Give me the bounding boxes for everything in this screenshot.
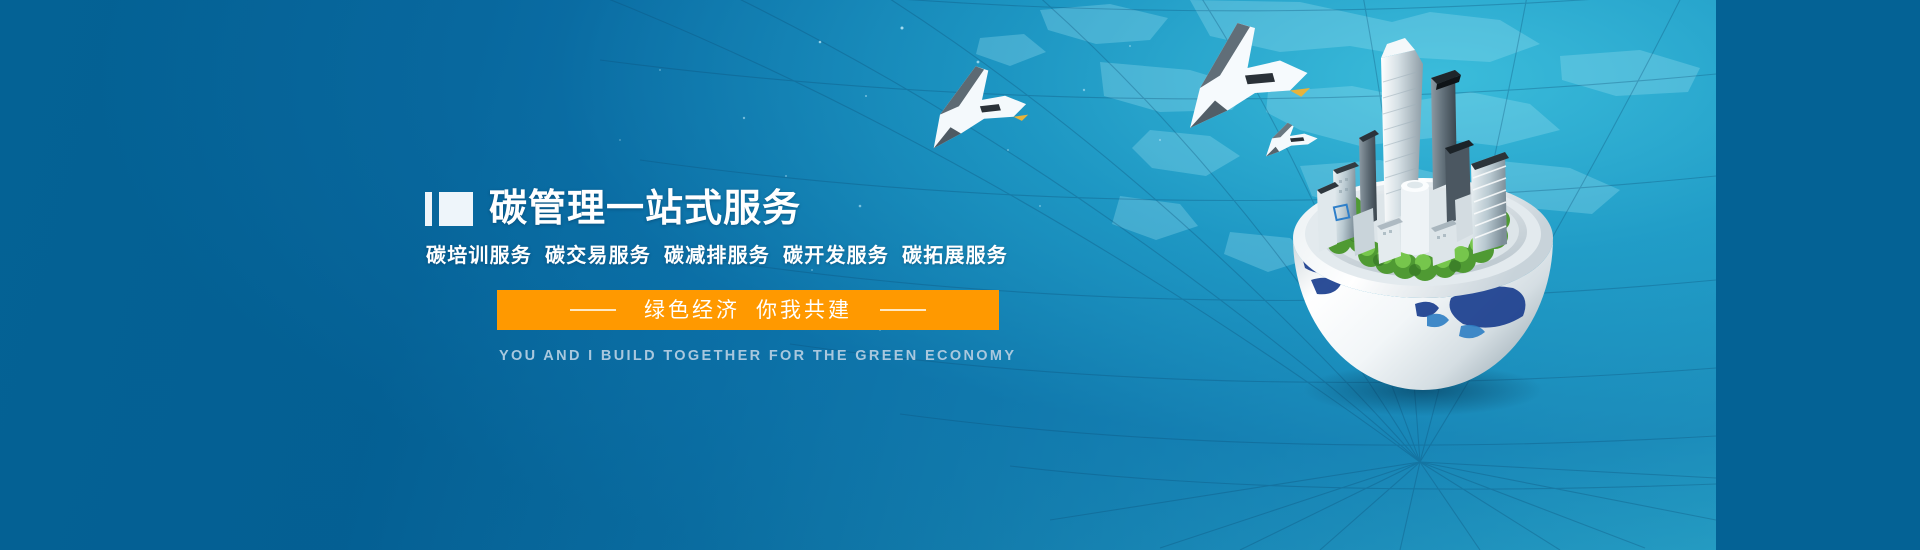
slogan-rule-left-icon: [570, 309, 616, 311]
banner-copy: 碳管理一站式服务 碳培训服务碳交易服务碳减排服务碳开发服务碳拓展服务 绿色经济你…: [425, 185, 1145, 365]
city-skyline: [1317, 38, 1509, 266]
logo-square-icon: [439, 192, 473, 226]
service-item-1: 碳交易服务: [545, 245, 651, 267]
slogan-rule-right-icon: [880, 309, 926, 311]
service-item-2: 碳减排服务: [664, 245, 770, 267]
seagull-left: [934, 66, 1028, 148]
english-tagline: YOU AND I BUILD TOGETHER FOR THE GREEN E…: [499, 347, 1145, 365]
slogan-banner: 绿色经济你我共建: [497, 290, 999, 330]
service-list: 碳培训服务碳交易服务碳减排服务碳开发服务碳拓展服务: [426, 244, 1145, 268]
title-row: 碳管理一站式服务: [425, 185, 1145, 233]
brand-logo-icon: [425, 192, 473, 226]
page-title: 碳管理一站式服务: [489, 189, 801, 229]
service-item-0: 碳培训服务: [426, 245, 532, 267]
logo-bar-icon: [425, 192, 432, 226]
service-item-3: 碳开发服务: [783, 245, 889, 267]
globe-city-illustration: [1255, 30, 1585, 430]
slogan-part-2: 你我共建: [756, 299, 852, 322]
slogan-text: 绿色经济你我共建: [644, 300, 852, 321]
hero-banner: 碳管理一站式服务 碳培训服务碳交易服务碳减排服务碳开发服务碳拓展服务 绿色经济你…: [0, 0, 1920, 550]
service-item-4: 碳拓展服务: [902, 245, 1008, 267]
slogan-part-1: 绿色经济: [644, 299, 740, 322]
